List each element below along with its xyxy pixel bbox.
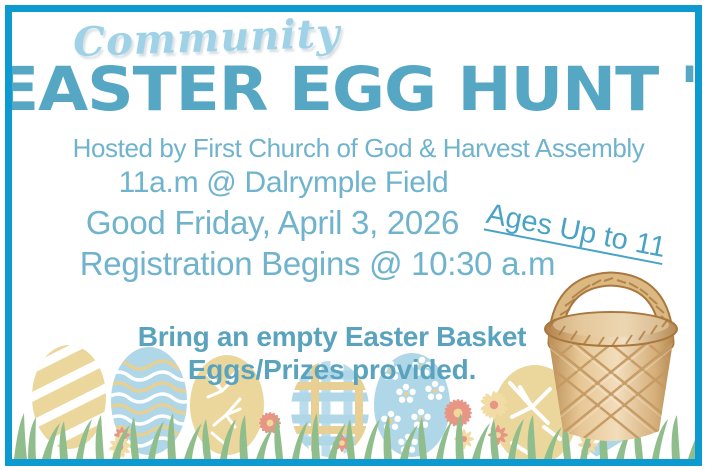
grass-blades xyxy=(14,413,695,459)
easter-egg-hunt-flyer: Community EASTER EGG HUNT '26 Hosted by … xyxy=(0,0,707,471)
instruction-line-2: Eggs/Prizes provided. xyxy=(12,353,652,386)
instructions-block: Bring an empty Easter Basket Eggs/Prizes… xyxy=(12,320,652,386)
instruction-line-1: Bring an empty Easter Basket xyxy=(12,320,652,353)
event-info-block: Hosted by First Church of God & Harvest … xyxy=(12,133,695,284)
page-title: EASTER EGG HUNT '26 xyxy=(12,59,695,121)
hosted-by-line: Hosted by First Church of God & Harvest … xyxy=(12,133,695,164)
flyer-canvas: Community EASTER EGG HUNT '26 Hosted by … xyxy=(12,12,695,459)
time-location-line: 11a.m @ Dalrymple Field xyxy=(12,164,695,202)
coral-flowers xyxy=(114,399,508,452)
yellow-daisies xyxy=(109,391,598,459)
flyer-border-frame: Community EASTER EGG HUNT '26 Hosted by … xyxy=(5,5,702,466)
